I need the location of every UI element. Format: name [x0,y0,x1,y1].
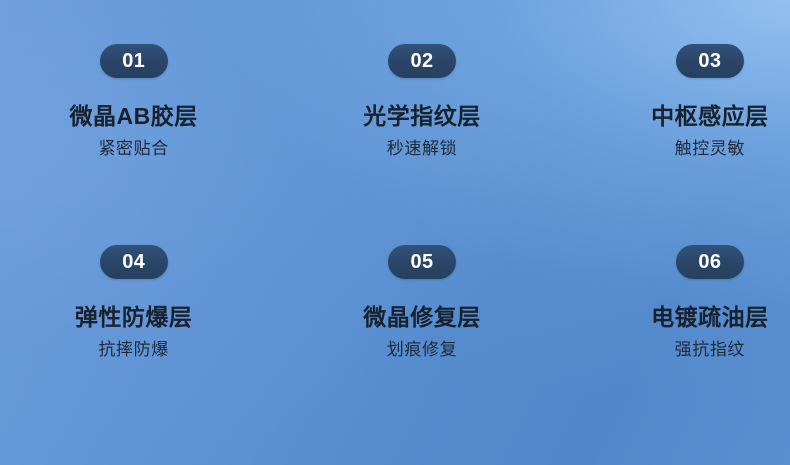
feature-card-01: 01 微晶AB胶层 紧密贴合 [0,44,263,245]
feature-badge-03: 03 [676,44,744,78]
feature-subtitle-05: 划痕修复 [387,341,457,360]
feature-badge-02: 02 [388,44,456,78]
feature-title-03: 中枢感应层 [651,104,769,129]
feature-subtitle-02: 秒速解锁 [387,140,457,159]
feature-badge-05: 05 [388,245,456,279]
feature-panel: 01 微晶AB胶层 紧密贴合 02 光学指纹层 秒速解锁 03 中枢感应层 触控… [0,0,790,465]
feature-card-02: 02 光学指纹层 秒速解锁 [263,44,526,245]
feature-badge-01: 01 [100,44,168,78]
feature-card-06: 06 电镀疏油层 强抗指纹 [527,245,790,446]
feature-subtitle-04: 抗摔防爆 [98,341,168,360]
feature-title-05: 微晶修复层 [363,305,481,330]
feature-subtitle-03: 触控灵敏 [675,140,745,159]
feature-title-06: 电镀疏油层 [651,305,769,330]
feature-title-02: 光学指纹层 [363,104,481,129]
feature-card-04: 04 弹性防爆层 抗摔防爆 [0,245,263,446]
feature-grid: 01 微晶AB胶层 紧密贴合 02 光学指纹层 秒速解锁 03 中枢感应层 触控… [0,0,790,465]
feature-subtitle-06: 强抗指纹 [675,341,745,360]
feature-card-03: 03 中枢感应层 触控灵敏 [527,44,790,245]
feature-title-04: 弹性防爆层 [75,305,193,330]
feature-badge-04: 04 [100,245,168,279]
feature-card-05: 05 微晶修复层 划痕修复 [263,245,526,446]
feature-badge-06: 06 [676,245,744,279]
feature-subtitle-01: 紧密贴合 [98,140,168,159]
feature-title-01: 微晶AB胶层 [70,104,198,129]
